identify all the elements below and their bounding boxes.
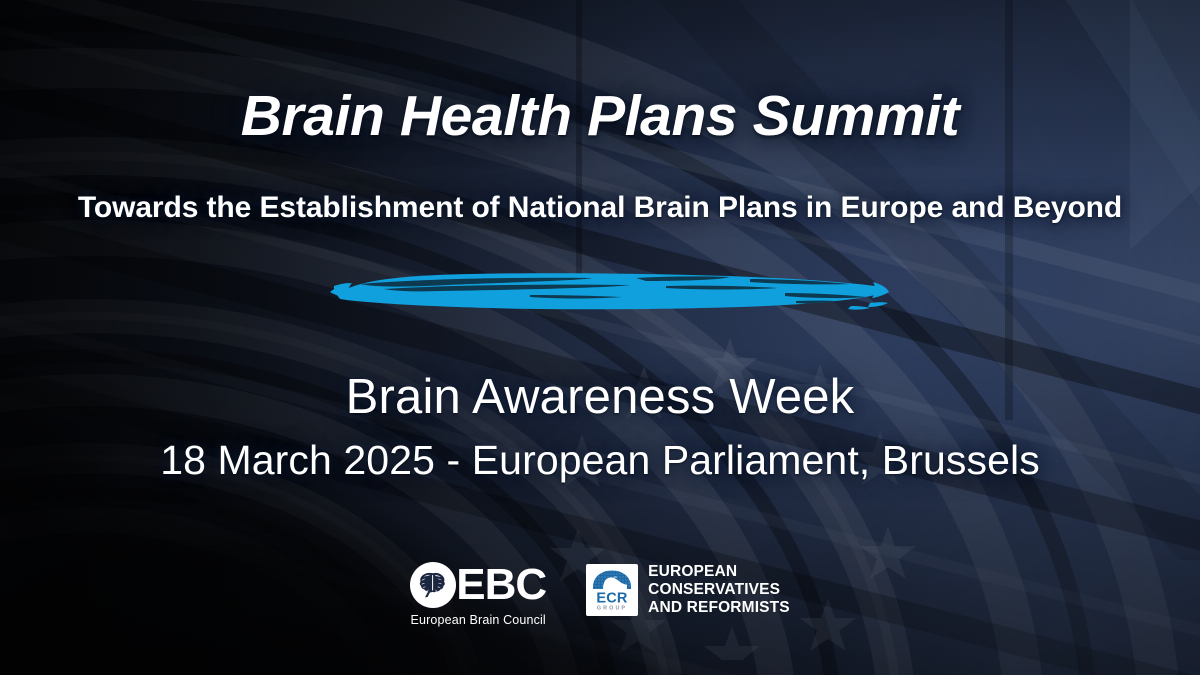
brushstroke-svg [330, 262, 890, 320]
ecr-mark-acronym: ECR [597, 590, 629, 606]
event-banner: Brain Health Plans Summit Towards the Es… [0, 0, 1200, 675]
logo-row: EBC European Brain Council [0, 556, 1200, 627]
banner-content: Brain Health Plans Summit Towards the Es… [0, 0, 1200, 675]
ecr-mark-svg: ECR GROUP [589, 567, 635, 613]
ecr-name-block: EUROPEAN CONSERVATIVES AND REFORMISTS [648, 563, 790, 617]
blue-brushstroke-divider [330, 262, 890, 320]
ebc-acronym: EBC [456, 563, 546, 607]
ecr-name-line-1: EUROPEAN [648, 563, 790, 581]
ecr-dome-icon: ECR GROUP [586, 564, 638, 616]
brain-icon [410, 562, 456, 608]
ebc-logo: EBC European Brain Council [410, 556, 546, 627]
event-subtitle: Towards the Establishment of National Br… [0, 191, 1200, 225]
ecr-arch-shape [593, 570, 631, 589]
event-title: Brain Health Plans Summit [0, 87, 1200, 147]
event-dateline: 18 March 2025 - European Parliament, Bru… [0, 437, 1200, 484]
brain-icon-svg [416, 568, 450, 602]
ebc-caption: European Brain Council [411, 613, 546, 627]
ecr-name-line-2: CONSERVATIVES [648, 581, 790, 599]
ebc-logo-row: EBC [410, 562, 546, 608]
ecr-logo: ECR GROUP EUROPEAN CONSERVATIVES AND REF… [586, 556, 790, 617]
event-headline: Brain Awareness Week [0, 369, 1200, 425]
ecr-mark-sub: GROUP [597, 605, 627, 611]
ecr-name-line-3: AND REFORMISTS [648, 599, 790, 617]
